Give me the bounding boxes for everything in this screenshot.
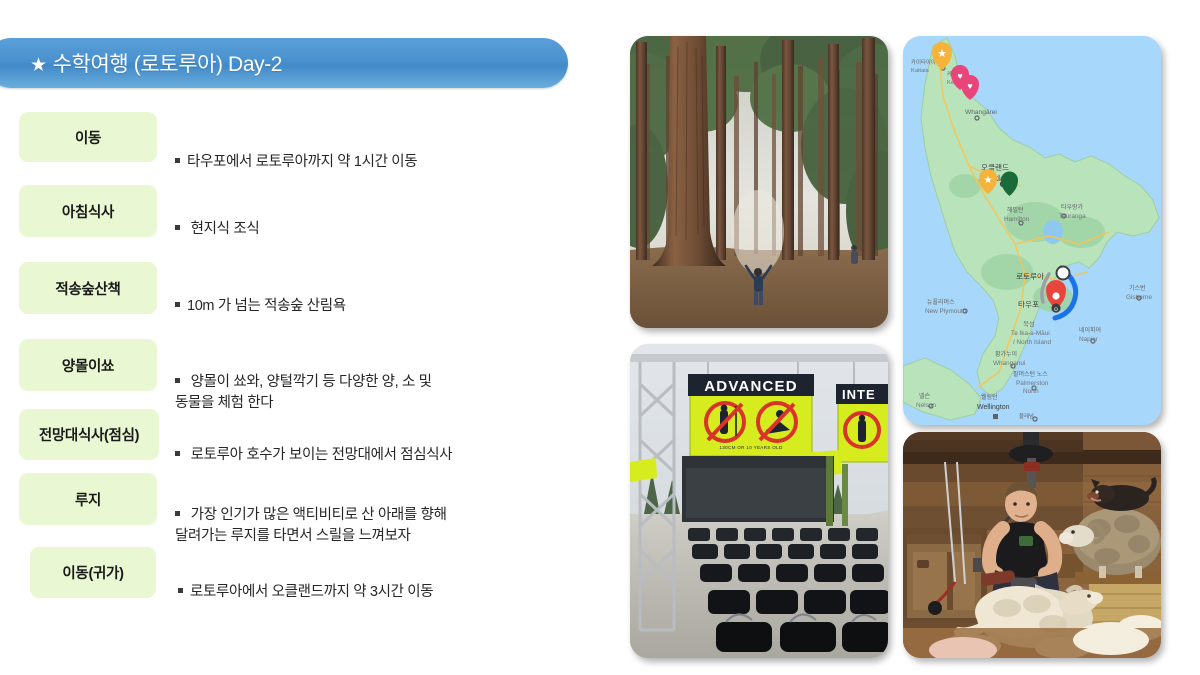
svg-text:Palmerston: Palmerston (1016, 380, 1049, 387)
agenda-desc: 현지식 조식 (175, 198, 605, 240)
agenda-desc-text: 가장 인기가 많은 액티비티로 산 아래를 향해 달려가는 루지를 타면서 스릴… (175, 507, 447, 544)
sheep-shearing-photo (903, 432, 1161, 658)
svg-text:팔머스턴 노스: 팔머스턴 노스 (1013, 370, 1048, 378)
svg-text:타우포: 타우포 (1018, 300, 1039, 309)
slide-root: ★수학여행 (로토루아) Day-2 이동 타우포에서 로토루아까지 약 1시간… (0, 0, 1200, 675)
agenda-desc-text: 로토루아 호수가 보이는 전망대에서 점심식사 (187, 447, 452, 463)
svg-text:New Plymouth: New Plymouth (925, 308, 967, 315)
svg-text:Nelson: Nelson (916, 402, 936, 409)
svg-text:Tauranga: Tauranga (1059, 213, 1086, 220)
agenda-desc-text: 양몰이 쑈와, 양털깍기 등 다양한 양, 소 및 동물을 체험 한다 (175, 374, 432, 411)
agenda-desc: 가장 인기가 많은 액티비티로 산 아래를 향해 달려가는 루지를 타면서 스릴… (175, 484, 520, 547)
svg-text:⊙: ⊙ (1054, 307, 1059, 313)
svg-text:기스번: 기스번 (1129, 284, 1146, 292)
agenda-desc-text: 타우포에서 로토루아까지 약 1시간 이동 (187, 154, 417, 170)
svg-text:Whanganui: Whanganui (993, 360, 1025, 367)
redwood-forest-photo (630, 36, 888, 328)
svg-text:♥: ♥ (967, 81, 972, 91)
svg-text:ADVANCED: ADVANCED (704, 378, 798, 395)
bullet-icon (178, 588, 183, 593)
agenda-chip-forest-walk: 적송숲산책 (19, 262, 157, 314)
luge-station-photo: ADVANCED 130CM OR 10 YEARS OLD INTE (630, 344, 888, 658)
agenda-chip-label: 전망대식사(점심) (39, 424, 139, 445)
svg-text:★: ★ (984, 175, 993, 186)
svg-text:Napier: Napier (1079, 336, 1099, 343)
svg-text:네이피어: 네이피어 (1079, 326, 1101, 334)
agenda-chip-breakfast: 아침식사 (19, 185, 157, 237)
wooden-pen (903, 528, 987, 622)
map-illustration: 카이타이아 Kaitaia 케리케리 Kerikeri Whangārei 오클… (903, 36, 1161, 425)
svg-text:로토루아: 로토루아 (1016, 271, 1044, 281)
agenda-desc-text: 로토루아에서 오클랜드까지 약 3시간 이동 (190, 584, 433, 600)
agenda-chip-label: 루지 (75, 489, 101, 510)
agenda-desc: 로토루아에서 오클랜드까지 약 3시간 이동 (178, 561, 608, 603)
bullet-icon (175, 302, 180, 307)
bullet-icon (175, 158, 180, 163)
agenda-list: 이동 타우포에서 로토루아까지 약 1시간 이동 아침식사 현지식 조식 적송숲… (0, 0, 620, 675)
new-zealand-map: 카이타이아 Kaitaia 케리케리 Kerikeri Whangārei 오클… (903, 36, 1161, 425)
agenda-desc: 10m 가 넘는 적송숲 산림욕 (175, 275, 605, 317)
svg-text:웰링턴: 웰링턴 (981, 393, 998, 401)
forest-illustration (630, 36, 888, 328)
bullet-icon (175, 378, 180, 383)
advanced-sign: ADVANCED 130CM OR 10 YEARS OLD (688, 374, 814, 456)
agenda-chip-luge: 루지 (19, 473, 157, 525)
agenda-chip-label: 이동(귀가) (62, 562, 123, 583)
agenda-chip-label: 아침식사 (62, 201, 114, 222)
svg-text:North: North (1023, 388, 1039, 395)
agenda-chip-label: 양몰이쑈 (62, 355, 114, 376)
svg-text:Wellington: Wellington (977, 404, 1010, 411)
agenda-chip-sheep-show: 양몰이쑈 (19, 339, 157, 391)
svg-text:/ North Island: / North Island (1013, 339, 1051, 346)
shed-illustration (903, 432, 1161, 658)
agenda-chip-return: 이동(귀가) (30, 547, 156, 598)
svg-text:넬슨: 넬슨 (919, 392, 931, 400)
bullet-icon (175, 451, 180, 456)
svg-text:Hamilton: Hamilton (1004, 216, 1030, 223)
agenda-desc-text: 현지식 조식 (187, 221, 259, 237)
svg-text:Gisborne: Gisborne (1126, 294, 1152, 301)
svg-text:Whangārei: Whangārei (965, 109, 997, 116)
svg-text:해밀턴: 해밀턴 (1007, 206, 1024, 214)
intermediate-sign: INTE (836, 384, 888, 462)
svg-text:뉴플리머스: 뉴플리머스 (927, 298, 955, 306)
agenda-chip-move: 이동 (19, 112, 157, 162)
svg-text:북섬: 북섬 (1023, 319, 1035, 328)
svg-text:♥: ♥ (957, 71, 962, 81)
agenda-chip-lookout-lunch: 전망대식사(점심) (19, 409, 159, 460)
agenda-chip-label: 이동 (75, 127, 101, 148)
agenda-desc: 양몰이 쑈와, 양털깍기 등 다양한 양, 소 및 동물을 체험 한다 (175, 351, 505, 414)
svg-text:블레넘: 블레넘 (1019, 412, 1034, 420)
svg-text:카이타이아: 카이타이아 (911, 58, 936, 66)
agenda-desc-text: 10m 가 넘는 적송숲 산림욕 (187, 298, 346, 314)
svg-text:Kaitaia: Kaitaia (911, 68, 930, 74)
agenda-desc: 로토루아 호수가 보이는 전망대에서 점심식사 (175, 424, 605, 466)
svg-text:130CM OR 10 YEARS OLD: 130CM OR 10 YEARS OLD (719, 445, 783, 450)
svg-text:INTE: INTE (842, 387, 876, 402)
bullet-icon (175, 511, 180, 516)
rotorua-circle-marker (1057, 267, 1070, 280)
agenda-desc: 타우포에서 로토루아까지 약 1시간 이동 (175, 131, 605, 173)
bullet-icon (175, 225, 180, 230)
agenda-chip-label: 적송숲산책 (55, 278, 120, 299)
svg-text:황가누이: 황가누이 (995, 350, 1017, 358)
luge-illustration: ADVANCED 130CM OR 10 YEARS OLD INTE (630, 344, 888, 658)
svg-text:타우랑가: 타우랑가 (1061, 203, 1084, 211)
svg-text:Te Ika-a-Māui: Te Ika-a-Māui (1011, 330, 1050, 337)
svg-text:★: ★ (937, 48, 947, 60)
